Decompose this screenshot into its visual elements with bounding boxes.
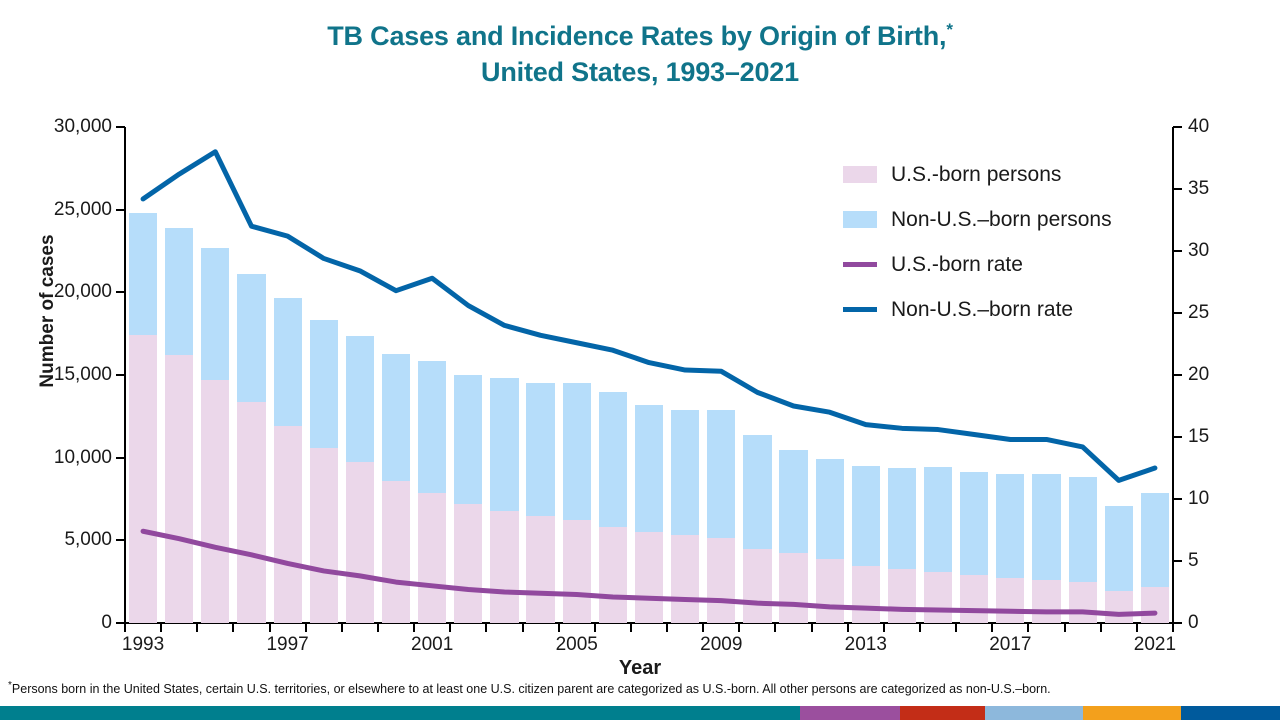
y-axis-right-tick (1173, 374, 1182, 376)
y-axis-right-tick (1173, 126, 1182, 128)
legend-line-icon (843, 262, 877, 267)
y-axis-right-tick (1173, 560, 1182, 562)
footnote-text: Persons born in the United States, certa… (12, 682, 1051, 696)
x-axis-tick (702, 623, 704, 632)
y-axis-right-tick-label: 35 (1188, 178, 1209, 200)
x-axis-tick (774, 623, 776, 632)
color-bar-segment (900, 706, 985, 720)
bottom-color-bar (0, 706, 1280, 720)
color-bar-segment (800, 706, 900, 720)
x-axis-tick (738, 623, 740, 632)
x-axis-tick-label: 2017 (989, 634, 1031, 656)
x-axis-tick (1027, 623, 1029, 632)
color-bar-segment (0, 706, 800, 720)
x-axis-tick (991, 623, 993, 632)
x-axis-tick (594, 623, 596, 632)
x-axis-tick (485, 623, 487, 632)
legend-line-icon (843, 307, 877, 312)
legend-item[interactable]: U.S.-born rate (843, 242, 1163, 287)
y-axis-left-title: Number of cases (37, 201, 59, 421)
y-axis-left-tick (116, 539, 125, 541)
y-axis-right-tick-label: 5 (1188, 550, 1199, 572)
x-axis-tick (124, 623, 126, 632)
legend-item[interactable]: Non-U.S.–born persons (843, 197, 1163, 242)
y-axis-right-tick (1173, 188, 1182, 190)
x-axis-tick (160, 623, 162, 632)
y-axis-right-tick-label: 0 (1188, 612, 1199, 634)
color-bar-segment (1083, 706, 1181, 720)
color-bar-segment (985, 706, 1083, 720)
y-axis-right-tick (1173, 250, 1182, 252)
line-us-born-rate (143, 531, 1155, 614)
y-axis-left-tick (116, 126, 125, 128)
x-axis-tick (919, 623, 921, 632)
legend-item[interactable]: Non-U.S.–born rate (843, 287, 1163, 332)
y-axis-right-tick-label: 15 (1188, 426, 1209, 448)
x-axis-tick (1136, 623, 1138, 632)
legend-item-label: U.S.-born persons (891, 163, 1061, 187)
y-axis-right-tick (1173, 312, 1182, 314)
x-axis-tick-label: 2021 (1134, 634, 1176, 656)
x-axis-tick (558, 623, 560, 632)
y-axis-left-tick-label: 5,000 (64, 529, 112, 551)
x-axis-tick-label: 1997 (266, 634, 308, 656)
x-axis-tick (449, 623, 451, 632)
y-axis-left-tick-label: 0 (101, 612, 112, 634)
y-axis-right-tick (1173, 436, 1182, 438)
x-axis-tick (630, 623, 632, 632)
x-axis-tick (955, 623, 957, 632)
x-axis-tick (1064, 623, 1066, 632)
x-axis-tick (377, 623, 379, 632)
x-axis-tick (522, 623, 524, 632)
x-axis-tick-label: 2001 (411, 634, 453, 656)
y-axis-right-tick (1173, 622, 1182, 624)
x-axis-tick (811, 623, 813, 632)
y-axis-left-tick-label: 20,000 (54, 281, 112, 303)
x-axis-tick (341, 623, 343, 632)
x-axis-tick-label: 2013 (845, 634, 887, 656)
x-axis-tick-label: 2009 (700, 634, 742, 656)
y-axis-right-tick (1173, 498, 1182, 500)
x-axis-tick (413, 623, 415, 632)
x-axis-tick (1100, 623, 1102, 632)
x-axis-tick (847, 623, 849, 632)
x-axis-tick (1172, 623, 1174, 632)
y-axis-left-tick (116, 457, 125, 459)
y-axis-left-tick-label: 15,000 (54, 364, 112, 386)
chart-legend: U.S.-born personsNon-U.S.–born personsU.… (843, 152, 1163, 332)
footnote: *Persons born in the United States, cert… (8, 682, 1272, 697)
chart-container: 05,00010,00015,00020,00025,00030,000 051… (0, 0, 1280, 720)
y-axis-right-tick-label: 30 (1188, 240, 1209, 262)
x-axis-tick-label: 1993 (122, 634, 164, 656)
legend-swatch-icon (843, 166, 877, 183)
x-axis-tick (232, 623, 234, 632)
y-axis-left-tick (116, 291, 125, 293)
y-axis-right-tick-label: 10 (1188, 488, 1209, 510)
x-axis-tick (196, 623, 198, 632)
legend-item-label: Non-U.S.–born persons (891, 208, 1112, 232)
y-axis-left-tick-label: 30,000 (54, 116, 112, 138)
color-bar-segment (1181, 706, 1280, 720)
x-axis-tick (305, 623, 307, 632)
legend-swatch-icon (843, 211, 877, 228)
x-axis-tick (666, 623, 668, 632)
y-axis-right-tick-label: 20 (1188, 364, 1209, 386)
x-axis-tick (269, 623, 271, 632)
y-axis-left-tick-label: 10,000 (54, 447, 112, 469)
y-axis-left-tick (116, 209, 125, 211)
y-axis-right-tick-label: 25 (1188, 302, 1209, 324)
y-axis-right-tick-label: 40 (1188, 116, 1209, 138)
legend-item[interactable]: U.S.-born persons (843, 152, 1163, 197)
y-axis-left-tick-label: 25,000 (54, 199, 112, 221)
x-axis-tick (883, 623, 885, 632)
legend-item-label: U.S.-born rate (891, 253, 1023, 277)
x-axis-title: Year (0, 657, 1280, 680)
x-axis-tick-label: 2005 (556, 634, 598, 656)
y-axis-left-tick (116, 374, 125, 376)
legend-item-label: Non-U.S.–born rate (891, 298, 1073, 322)
